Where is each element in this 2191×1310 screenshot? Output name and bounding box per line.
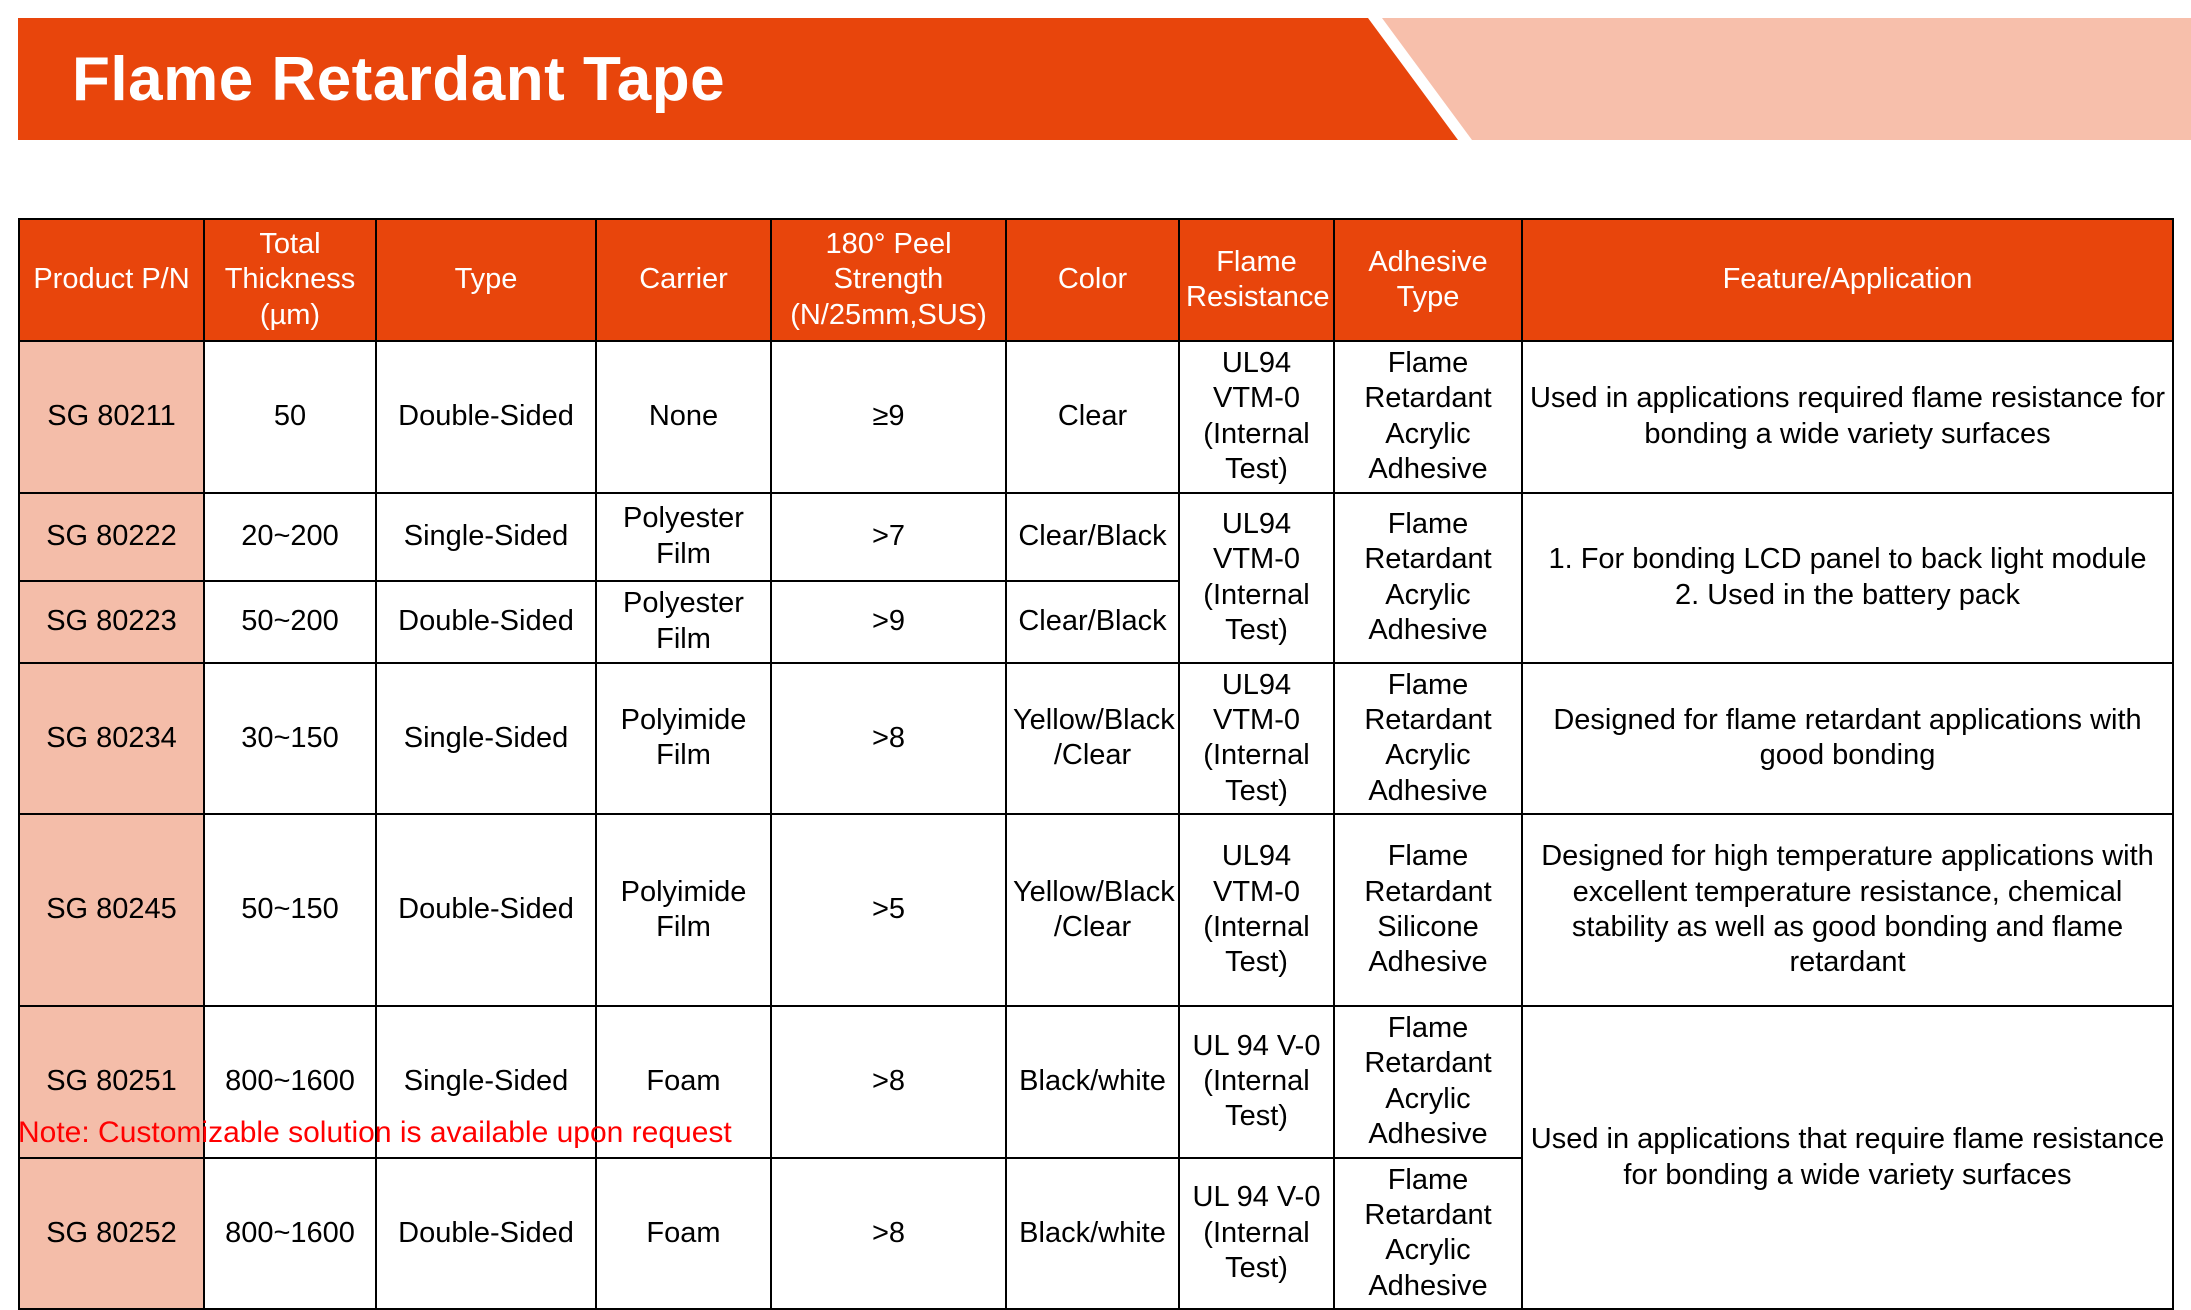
cell-feature-application: Designed for high temperature applicatio… [1522,814,2173,1006]
note-text: Note: Customizable solution is available… [18,1116,732,1150]
cell-type: Double-Sided [376,1158,596,1310]
cell-feature-application: 1. For bonding LCD panel to back light m… [1522,493,2173,663]
cell-type: Double-Sided [376,341,596,493]
cell-carrier: PolyesterFilm [596,493,771,581]
cell-flame-resistance: UL 94 V-0(Internal Test) [1179,1006,1334,1158]
cell-color: Black/white [1006,1158,1179,1310]
cell-adhesive-type: Flame RetardantAcrylic Adhesive [1334,1158,1522,1310]
column-header-peel-strength: 180° PeelStrength(N/25mm,SUS) [771,219,1006,341]
cell-color: Yellow/Black/Clear [1006,814,1179,1006]
cell-carrier: PolyesterFilm [596,581,771,663]
table-header-row: Product P/N TotalThickness(µm) Type Carr… [19,219,2173,341]
cell-flame-resistance: UL94 VTM-0(Internal Test) [1179,493,1334,663]
column-header-color: Color [1006,219,1179,341]
cell-product-pn: SG 80252 [19,1158,204,1310]
cell-peel-strength: >5 [771,814,1006,1006]
cell-type: Single-Sided [376,663,596,815]
cell-total-thickness: 800~1600 [204,1158,376,1310]
cell-flame-resistance: UL94 VTM-0(Internal Test) [1179,663,1334,815]
column-header-flame-resistance: FlameResistance [1179,219,1334,341]
cell-total-thickness: 30~150 [204,663,376,815]
cell-color: Clear [1006,341,1179,493]
column-header-type: Type [376,219,596,341]
cell-product-pn: SG 80211 [19,341,204,493]
cell-peel-strength: >8 [771,663,1006,815]
column-header-product-pn: Product P/N [19,219,204,341]
cell-flame-resistance: UL94 VTM-0(Internal Test) [1179,341,1334,493]
page-banner: Flame Retardant Tape [0,18,2191,140]
table-row: SG 80245 50~150 Double-Sided PolyimideFi… [19,814,2173,1006]
cell-flame-resistance: UL 94 V-0(Internal Test) [1179,1158,1334,1310]
table-row: SG 80211 50 Double-Sided None ≥9 Clear U… [19,341,2173,493]
cell-type: Double-Sided [376,581,596,663]
column-header-total-thickness: TotalThickness(µm) [204,219,376,341]
cell-peel-strength: ≥9 [771,341,1006,493]
cell-carrier: PolyimideFilm [596,663,771,815]
cell-color: Yellow/Black/Clear [1006,663,1179,815]
cell-peel-strength: >7 [771,493,1006,581]
column-header-carrier: Carrier [596,219,771,341]
column-header-feature-application: Feature/Application [1522,219,2173,341]
cell-adhesive-type: Flame RetardantSilicone Adhesive [1334,814,1522,1006]
cell-feature-application: Used in applications that require flame … [1522,1006,2173,1309]
cell-adhesive-type: Flame RetardantAcrylic Adhesive [1334,1006,1522,1158]
table-row: SG 80234 30~150 Single-Sided PolyimideFi… [19,663,2173,815]
cell-peel-strength: >8 [771,1006,1006,1158]
cell-adhesive-type: Flame RetardantAcrylic Adhesive [1334,341,1522,493]
cell-product-pn: SG 80222 [19,493,204,581]
cell-total-thickness: 50 [204,341,376,493]
cell-total-thickness: 50~150 [204,814,376,1006]
cell-adhesive-type: Flame RetardantAcrylic Adhesive [1334,663,1522,815]
cell-type: Double-Sided [376,814,596,1006]
cell-product-pn: SG 80245 [19,814,204,1006]
column-header-adhesive-type: Adhesive Type [1334,219,1522,341]
cell-flame-resistance: UL94 VTM-0(Internal Test) [1179,814,1334,1006]
cell-total-thickness: 20~200 [204,493,376,581]
cell-feature-application: Used in applications required flame resi… [1522,341,2173,493]
cell-color: Black/white [1006,1006,1179,1158]
cell-carrier: Foam [596,1158,771,1310]
cell-product-pn: SG 80223 [19,581,204,663]
cell-peel-strength: >8 [771,1158,1006,1310]
cell-feature-application: Designed for flame retardant application… [1522,663,2173,815]
cell-peel-strength: >9 [771,581,1006,663]
cell-carrier: None [596,341,771,493]
cell-carrier: PolyimideFilm [596,814,771,1006]
cell-color: Clear/Black [1006,581,1179,663]
cell-color: Clear/Black [1006,493,1179,581]
page-title: Flame Retardant Tape [72,18,725,140]
cell-adhesive-type: Flame RetardantAcrylic Adhesive [1334,493,1522,663]
cell-total-thickness: 50~200 [204,581,376,663]
cell-product-pn: SG 80234 [19,663,204,815]
cell-type: Single-Sided [376,493,596,581]
table-row: SG 80222 20~200 Single-Sided PolyesterFi… [19,493,2173,581]
